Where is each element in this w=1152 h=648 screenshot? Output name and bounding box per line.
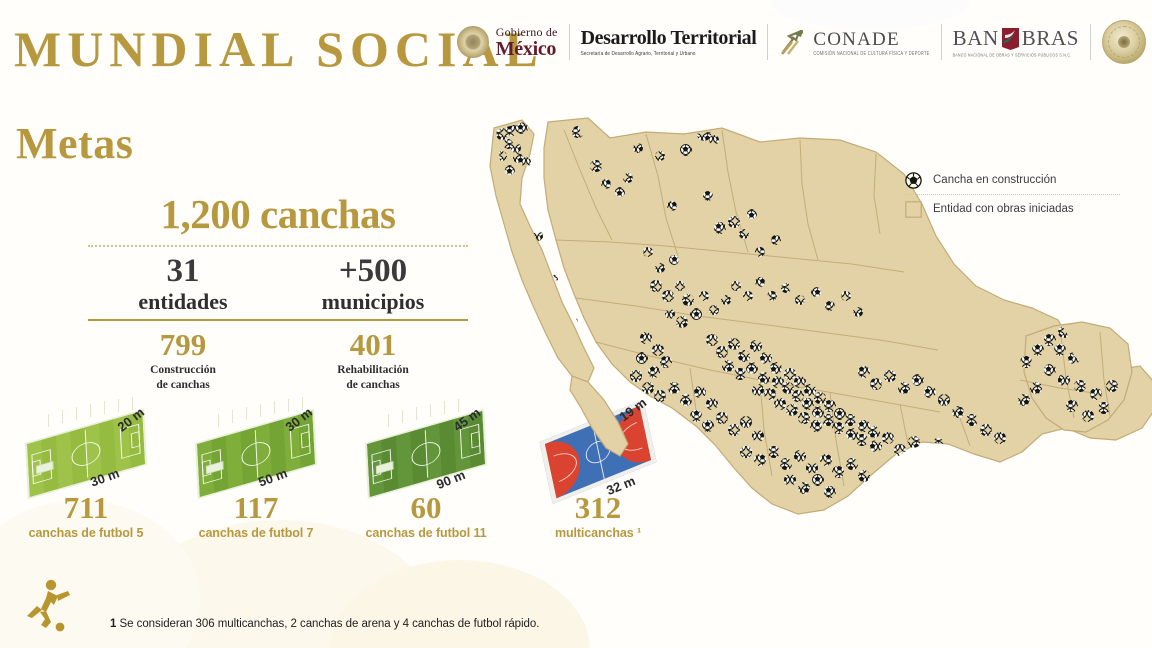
stat-rehabilitacion-label1: Rehabilitación	[278, 363, 468, 377]
soccer-player-icon	[24, 578, 78, 634]
stat-municipios: +500 municipios	[278, 254, 468, 314]
sedatu-line1: Desarrollo Territorial	[581, 28, 757, 48]
stat-municipios-label: municipios	[278, 290, 468, 314]
infographic-page: MUNDIAL SOCIAL Gobierno de México Desarr…	[0, 0, 1152, 648]
sedatu-line2: Secretaría de Desarrollo Agrario, Territ…	[581, 51, 757, 57]
divider-solid	[88, 319, 468, 321]
stat-construccion: 799 Construcción de canchas	[88, 329, 278, 392]
logo-bar: Gobierno de México Desarrollo Territoria…	[457, 14, 1146, 70]
soccer-pitch-icon: 30 m 50 m	[170, 398, 342, 490]
logo-banobras: BAN BRAS BANCO NACIONAL DE OBRAS Y SERVI…	[953, 27, 1079, 58]
mexico-seal-icon	[457, 26, 489, 58]
legend-label: Cancha en construcción	[933, 174, 1056, 186]
conade-line1: CONADE	[813, 30, 929, 49]
logo-desarrollo-territorial: Desarrollo Territorial Secretaría de Des…	[581, 28, 757, 56]
court-card-futbol-5: 20 m 30 m 711 canchas de futbol 5	[0, 398, 172, 540]
works-row: 799 Construcción de canchas 401 Rehabili…	[88, 329, 468, 392]
filled-square-icon	[905, 201, 922, 218]
stat-rehabilitacion: 401 Rehabilitación de canchas	[278, 329, 468, 392]
banobras-word1: BAN	[953, 28, 999, 49]
court-card-futbol-7: 30 m 50 m 117 canchas de futbol 7	[170, 398, 342, 540]
gold-seal-icon	[1102, 20, 1146, 64]
stat-rehabilitacion-label2: de canchas	[278, 378, 468, 392]
banobras-flag-icon	[1000, 27, 1021, 51]
stat-construccion-number: 799	[88, 329, 278, 362]
entities-row: 31 entidades +500 municipios	[88, 254, 468, 314]
logo-gobierno-de-mexico: Gobierno de México	[457, 26, 558, 59]
logo-divider	[767, 24, 768, 60]
section-title-metas: Metas	[16, 122, 133, 166]
soccer-pitch-icon: 20 m 30 m	[0, 398, 172, 490]
court-caption: canchas de futbol 7	[170, 526, 342, 540]
stat-construccion-label2: de canchas	[88, 378, 278, 392]
legend-item-entidad: Entidad con obras iniciadas	[905, 195, 1133, 223]
legend-label: Entidad con obras iniciadas	[933, 203, 1074, 215]
stat-entidades-number: 31	[88, 254, 278, 289]
footnote-text: Se consideran 306 multicanchas, 2 cancha…	[116, 618, 539, 630]
soccer-ball-icon	[905, 172, 922, 189]
logo-divider	[569, 24, 570, 60]
stat-municipios-number: +500	[278, 254, 468, 289]
page-header: MUNDIAL SOCIAL Gobierno de México Desarr…	[0, 0, 1152, 88]
legend-item-cancha: Cancha en construcción	[905, 166, 1133, 194]
conade-runner-icon	[779, 28, 809, 56]
logo-conade: CONADE COMISIÓN NACIONAL DE CULTURA FÍSI…	[779, 28, 929, 56]
logo-divider	[1090, 24, 1091, 60]
stats-block: 1,200 canchas 31 entidades +500 municipi…	[88, 193, 468, 392]
stat-rehabilitacion-number: 401	[278, 329, 468, 362]
headline-total-canchas: 1,200 canchas	[88, 193, 468, 236]
divider-dotted	[88, 245, 468, 247]
court-count: 711	[0, 492, 172, 523]
logo-divider	[941, 24, 942, 60]
stat-entidades-label: entidades	[88, 290, 278, 314]
court-caption: canchas de futbol 5	[0, 526, 172, 540]
banobras-word2: BRAS	[1022, 28, 1079, 49]
court-count: 117	[170, 492, 342, 523]
map-legend: Cancha en construcción Entidad con obras…	[905, 166, 1133, 223]
banobras-line2: BANCO NACIONAL DE OBRAS Y SERVICIOS PÚBL…	[953, 54, 1079, 59]
stat-entidades: 31 entidades	[88, 254, 278, 314]
gobierno-line2: México	[496, 39, 558, 59]
footnote: 1 Se consideran 306 multicanchas, 2 canc…	[110, 618, 539, 630]
stat-construccion-label1: Construcción	[88, 363, 278, 377]
gobierno-line1: Gobierno de	[496, 26, 558, 38]
conade-line2: COMISIÓN NACIONAL DE CULTURA FÍSICA Y DE…	[813, 51, 929, 56]
